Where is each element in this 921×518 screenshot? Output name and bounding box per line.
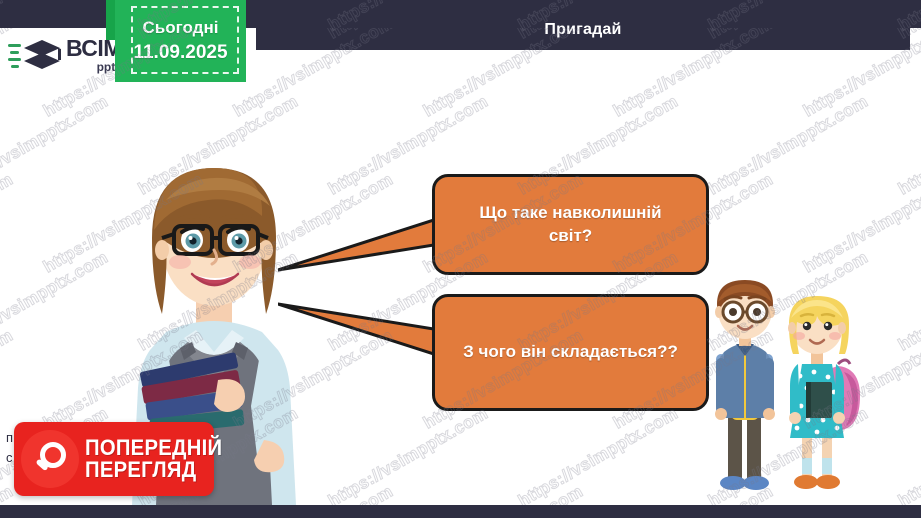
watermark-text: https://vsimpptx.com xyxy=(705,92,872,200)
preview-badge-text: ПОПЕРЕДНІЙ ПЕРЕГЛЯД xyxy=(85,437,234,482)
preview-watermark-badge: ПОПЕРЕДНІЙ ПЕРЕГЛЯД xyxy=(14,422,214,496)
watermark-text: https://vsimpptx.com xyxy=(0,92,112,200)
speech-bubble-tail-2 xyxy=(278,300,440,356)
slide-header-bar: Пригадай xyxy=(256,10,910,50)
preview-badge-icon-circle xyxy=(21,430,79,488)
speech-bubble-question-2: З чого він складається?? xyxy=(432,294,709,411)
watermark-text: https://vsimpptx.com xyxy=(420,482,587,505)
watermark-text: https://vsimpptx.com xyxy=(800,170,921,278)
preview-badge-line-2: ПЕРЕГЛЯД xyxy=(85,459,222,481)
watermark-text: https://vsimpptx.com xyxy=(895,248,921,356)
date-badge-value: 11.09.2025 xyxy=(133,42,227,64)
date-badge-body: Сьогодні 11.09.2025 xyxy=(115,0,246,82)
speech-bubble-question-2-text: З чого він складається?? xyxy=(441,341,700,364)
date-badge-label: Сьогодні xyxy=(143,18,219,38)
occluded-line-1: п xyxy=(6,428,13,448)
speech-bubble-tail-1 xyxy=(278,218,440,274)
watermark-text: https://vsimpptx.com xyxy=(895,92,921,200)
watermark-text: https://vsimpptx.com xyxy=(0,326,17,434)
watermark-text: https://vsimpptx.com xyxy=(0,248,112,356)
watermark-text: https://vsimpptx.com xyxy=(895,404,921,505)
preview-badge-line-1: ПОПЕРЕДНІЙ xyxy=(85,437,222,459)
watermark-text: https://vsimpptx.com xyxy=(515,404,682,505)
magnifier-icon xyxy=(31,440,69,478)
watermark-text: https://vsimpptx.com xyxy=(0,170,17,278)
page-title: Пригадай xyxy=(544,21,621,39)
watermark-text: https://vsimpptx.com xyxy=(325,404,492,505)
speech-bubble-question-1-text: Що таке навколишній світ? xyxy=(435,202,706,248)
graduation-cap-logo-icon xyxy=(8,35,64,75)
occluded-line-2: с xyxy=(6,448,13,468)
occluded-body-text: п с xyxy=(6,428,13,468)
today-date-badge: Сьогодні 11.09.2025 xyxy=(106,0,246,82)
speech-bubble-question-1: Що таке навколишній світ? xyxy=(432,174,709,275)
children-illustration xyxy=(698,272,878,505)
slide-viewer: Що таке навколишній світ? З чого він скл… xyxy=(0,0,921,518)
